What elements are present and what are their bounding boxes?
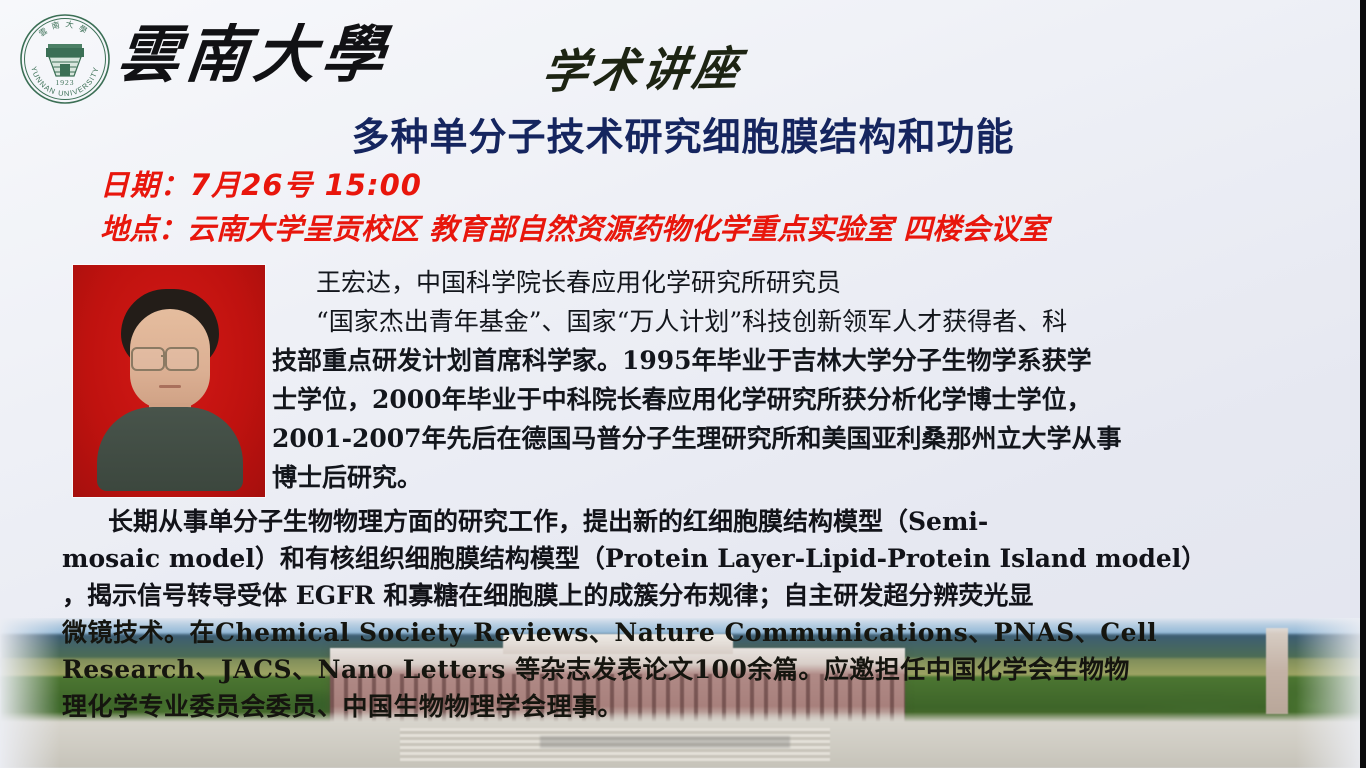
portrait-glasses-right — [165, 347, 199, 371]
portrait-glasses-left — [131, 347, 165, 371]
photo-plaque — [540, 736, 790, 748]
talk-title: 多种单分子技术研究细胞膜结构和功能 — [0, 106, 1366, 161]
speaker-bio-line: 士学位，2000年毕业于中科院长春应用化学研究所获分析化学博士学位， — [272, 380, 1312, 419]
lecture-poster: 1923 YUNNAN UNIVERSITY 雲南大學 雲南大學 学术讲座 多种… — [0, 0, 1366, 768]
lecture-kind-calligraphy: 学术讲座 — [539, 32, 748, 101]
poster-header: 1923 YUNNAN UNIVERSITY 雲南大學 雲南大學 学术讲座 — [0, 0, 1366, 112]
speaker-bio-top: 王宏达，中国科学院长春应用化学研究所研究员 “国家杰出青年基金”、国家“万人计划… — [272, 263, 1312, 497]
svg-text:雲南大學: 雲南大學 — [37, 19, 93, 39]
right-edge-border — [1360, 0, 1366, 768]
research-line: mosaic model）和有核组织细胞膜结构模型（Protein Layer-… — [62, 540, 1310, 577]
university-name-calligraphy: 雲南大學 — [113, 8, 395, 102]
speaker-bio-line: 2001-2007年先后在德国马普分子生理研究所和美国亚利桑那州立大学从事 — [272, 419, 1312, 458]
yunnan-university-seal-icon: 1923 YUNNAN UNIVERSITY 雲南大學 — [18, 12, 112, 106]
portrait-glasses-bridge — [161, 355, 167, 357]
speaker-research-summary: 长期从事单分子生物物理方面的研究工作，提出新的红细胞膜结构模型（Semi- mo… — [62, 503, 1310, 725]
research-line: 长期从事单分子生物物理方面的研究工作，提出新的红细胞膜结构模型（Semi- — [62, 503, 1310, 540]
speaker-bio-line: 博士后研究。 — [272, 458, 1312, 497]
speaker-portrait — [73, 265, 265, 497]
speaker-name-affiliation: 王宏达，中国科学院长春应用化学研究所研究员 — [272, 263, 1312, 302]
portrait-sweater — [97, 407, 243, 491]
research-line: Research、JACS、Nano Letters 等杂志发表论文100余篇。… — [62, 651, 1310, 688]
research-line: 微镜技术。在Chemical Society Reviews、Nature Co… — [62, 614, 1310, 651]
event-meta: 日期：7月26号 15:00 地点：云南大学呈贡校区 教育部自然资源药物化学重点… — [100, 163, 1048, 251]
photo-fade-left — [0, 618, 60, 768]
research-line: ，揭示信号转导受体 EGFR 和寡糖在细胞膜上的成簇分布规律；自主研发超分辨荧光… — [62, 577, 1310, 614]
event-venue: 地点：云南大学呈贡校区 教育部自然资源药物化学重点实验室 四楼会议室 — [100, 207, 1048, 251]
research-line: 理化学专业委员会委员、中国生物物理学会理事。 — [62, 688, 1310, 725]
speaker-bio-line: 技部重点研发计划首席科学家。1995年毕业于吉林大学分子生物学系获学 — [272, 341, 1312, 380]
speaker-bio-line: “国家杰出青年基金”、国家“万人计划”科技创新领军人才获得者、科 — [272, 302, 1312, 341]
portrait-mouth — [159, 385, 181, 388]
event-date: 日期：7月26号 15:00 — [100, 163, 1048, 207]
svg-text:1923: 1923 — [56, 78, 75, 87]
